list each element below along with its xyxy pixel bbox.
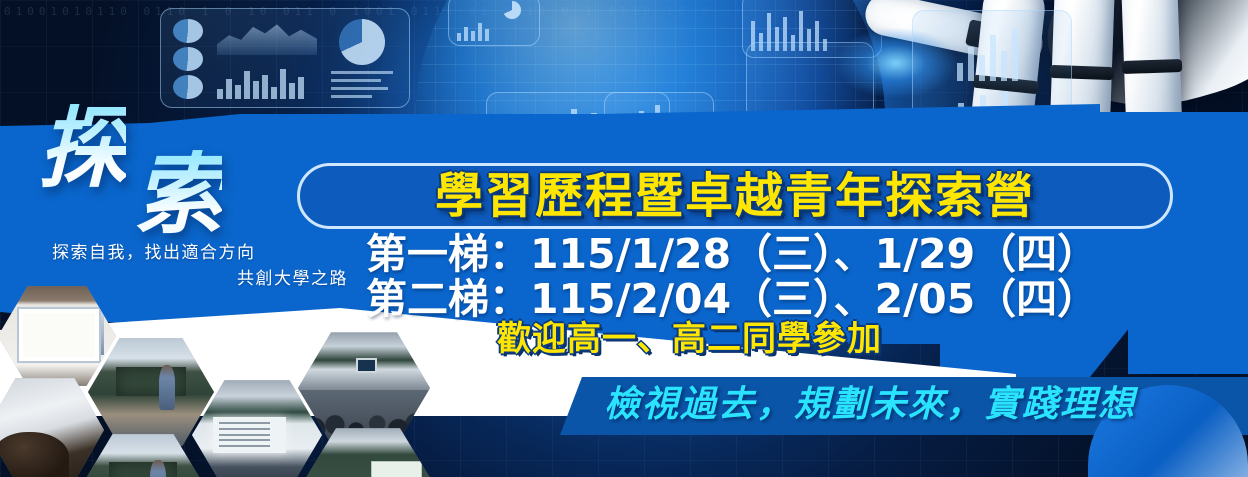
hud-half-circle-2: [173, 47, 203, 71]
session-date-line-1: 第一梯：115/1/28（三）、1/29（四）: [366, 232, 1166, 277]
photo-student-laptop: [0, 376, 104, 477]
hud-text-lines: [331, 71, 393, 103]
hud-donut-mini: [503, 1, 521, 19]
bottom-slogan: 檢視過去，規劃未來，實踐理想: [604, 387, 1136, 423]
hud-bars-mini: [457, 19, 489, 41]
promotional-banner: 01001010110 0110 1 0 10 011 0 1001 0110 …: [0, 0, 1248, 477]
photo-collage: [0, 284, 506, 477]
hud-area-chart: [217, 19, 317, 55]
robot-knuckle: [1122, 59, 1182, 74]
hud-pie-chart: [339, 19, 385, 65]
hud-half-circle-3: [173, 75, 203, 99]
sub-slogan-line-1: 探索自我，找出適合方向: [52, 240, 352, 266]
hud-bar-chart-small: [217, 65, 304, 99]
event-title-oval: 學習歷程暨卓越青年探索營: [297, 163, 1173, 229]
hud-hand-bars-top: [957, 25, 1018, 81]
hud-dashboard: [160, 8, 410, 108]
hud-half-circle-1: [173, 19, 203, 43]
welcome-line: 歡迎高一、高二同學參加: [497, 322, 882, 356]
hud-panel-left-small: [448, 0, 540, 46]
event-title: 學習歷程暨卓越青年探索營: [435, 172, 1035, 220]
photo-poster: [0, 284, 116, 388]
photo-green-board: [304, 426, 432, 477]
